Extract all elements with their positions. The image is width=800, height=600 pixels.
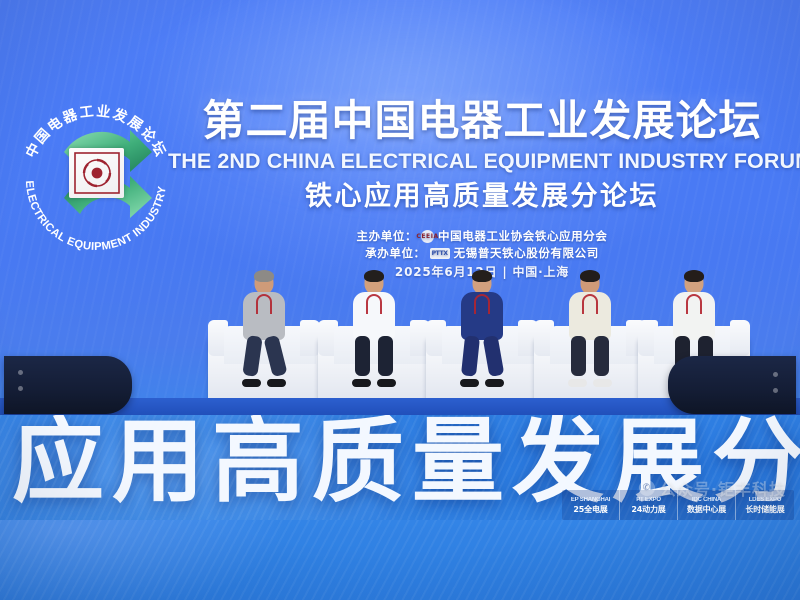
panelist-seat-1	[202, 258, 326, 408]
sponsor-mark: PT EXPO	[636, 497, 661, 503]
sponsor-mark: IDC CHINA	[692, 497, 721, 503]
sponsor-name: 数据中心展	[687, 504, 726, 515]
panelist-1	[226, 272, 302, 390]
stage-photo-scene: 中国电器工业发展论坛 CHINA ELECTRICAL EQUIPMENT IN…	[0, 0, 800, 600]
title-block: 第二届中国电器工业发展论坛 THE 2ND CHINA ELECTRICAL E…	[168, 96, 796, 214]
sponsor-logo-strip: EP SHANGHAI 25全电展 PT EXPO 24动力展 IDC CHIN…	[562, 490, 794, 520]
panelist-4	[552, 272, 628, 390]
host-line: 主办单位： CEEIA 中国电器工业协会铁心应用分会	[168, 228, 796, 245]
sponsor-name: 24动力展	[631, 504, 665, 515]
panelist-2	[336, 272, 412, 390]
stage-speaker-left	[4, 356, 132, 414]
sponsor-mark: LDES EXPO	[749, 497, 782, 503]
panelist-seat-2	[312, 258, 436, 408]
event-title-cn: 第二届中国电器工业发展论坛	[168, 96, 796, 146]
ceeia-badge-icon: CEEIA	[421, 230, 434, 243]
sponsor-logo-2: PT EXPO 24动力展	[620, 490, 678, 520]
sponsor-logo-3: IDC CHINA 数据中心展	[678, 490, 736, 520]
event-title-en: THE 2ND CHINA ELECTRICAL EQUIPMENT INDUS…	[168, 149, 796, 173]
panelist-seat-3	[420, 258, 544, 408]
stage-floor-lower	[0, 520, 800, 600]
forum-logo: 中国电器工业发展论坛 CHINA ELECTRICAL EQUIPMENT IN…	[8, 86, 184, 266]
host-name: 中国电器工业协会铁心应用分会	[438, 228, 607, 245]
panelist-3	[444, 272, 520, 390]
sponsor-mark: EP SHANGHAI	[571, 497, 610, 503]
sponsor-name: 长时储能展	[746, 504, 785, 515]
sponsor-logo-1: EP SHANGHAI 25全电展	[562, 490, 620, 520]
host-label: 主办单位：	[357, 228, 418, 245]
ceeia-emblem-icon	[69, 148, 124, 198]
sponsor-name: 25全电展	[573, 504, 607, 515]
sponsor-logo-4: LDES EXPO 长时储能展	[736, 490, 794, 520]
subforum-title: 铁心应用高质量发展分论坛	[168, 180, 796, 214]
stage-speaker-right	[668, 356, 796, 414]
